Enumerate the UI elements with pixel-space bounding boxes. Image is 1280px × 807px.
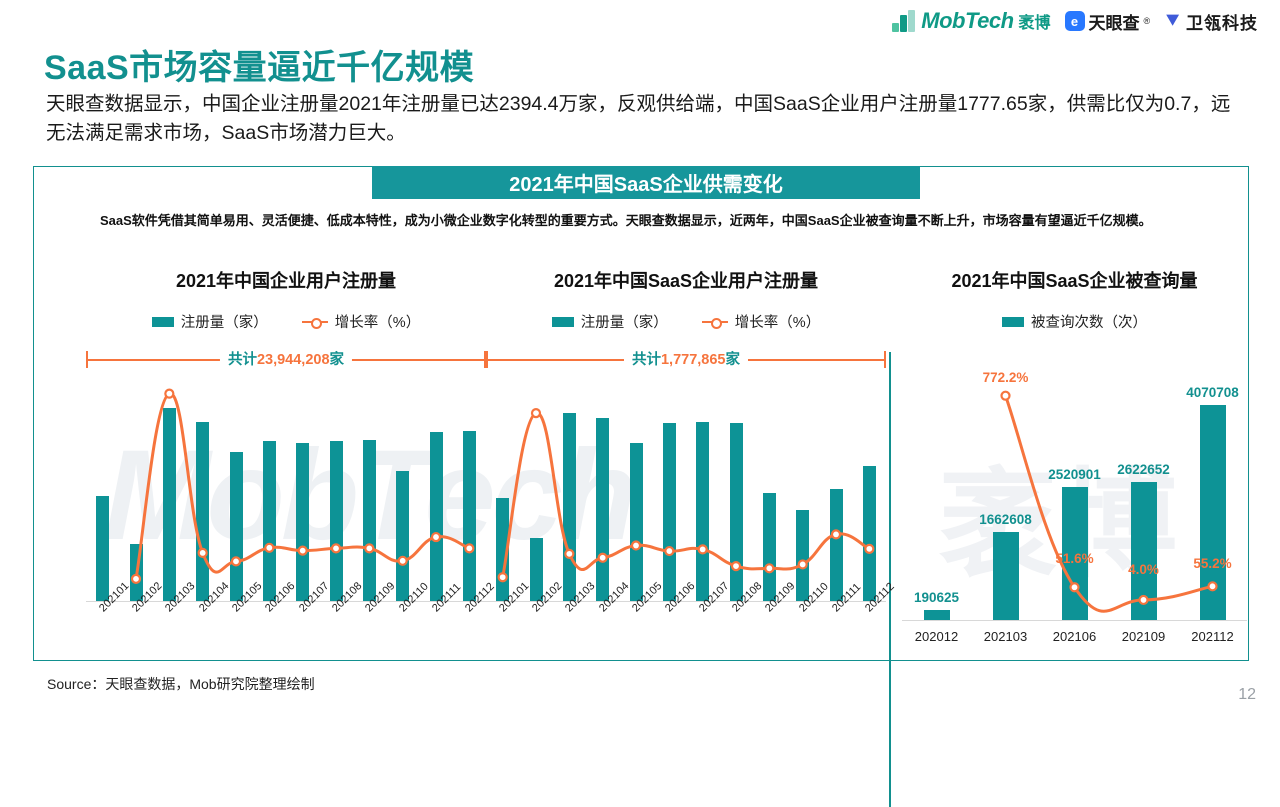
- chart-3-title: 2021年中国SaaS企业被查询量: [902, 267, 1247, 293]
- line-swatch-icon: [702, 317, 728, 327]
- chart-1-legend: 注册量（家） 增长率（%）: [86, 311, 486, 332]
- total-text: 共计1,777,865家: [624, 348, 748, 369]
- chart-2-xaxis-labels: 2021012021022021032021042021052021062021…: [486, 606, 886, 652]
- x-axis-label: 202012: [915, 629, 958, 644]
- tianyancha-logo: e 天眼查 ®: [1065, 9, 1151, 34]
- growth-line: [902, 358, 1247, 621]
- legend-item-bar: 注册量（家）: [552, 311, 668, 332]
- growth-value-label: 772.2%: [983, 370, 1029, 385]
- total-cap-right: [884, 351, 886, 368]
- chart-card: 2021年中国SaaS企业供需变化 SaaS软件凭借其简单易用、灵活便捷、低成本…: [33, 166, 1249, 661]
- chart-panel-2: 2021年中国SaaS企业用户注册量 注册量（家） 增长率（%） 共计1,777…: [486, 267, 886, 652]
- chart-1-total-annotation: 共计23,944,208家: [86, 348, 486, 370]
- chart-panel-3: 2021年中国SaaS企业被查询量 被查询次数（次） 1906251662608…: [902, 267, 1247, 651]
- chart-2-legend: 注册量（家） 增长率（%）: [486, 311, 886, 332]
- mobtech-cn-label: 袤博: [1019, 9, 1051, 33]
- chart-3-plot: 1906251662608252090126226524070708772.2%…: [902, 358, 1247, 621]
- mobtech-wordmark: MobTech: [921, 8, 1013, 34]
- card-note: SaaS软件凭借其简单易用、灵活便捷、低成本特性，成为小微企业数字化转型的重要方…: [100, 211, 1190, 231]
- chart-1-xaxis-labels: 2021012021022021032021042021052021062021…: [86, 606, 486, 652]
- page-title: SaaS市场容量逼近千亿规模: [44, 40, 474, 89]
- slide: MobTech 袤博 e 天眼查 ® ⯆ 卫瓴科技 SaaS市场容量逼近千亿规模…: [0, 0, 1280, 720]
- x-axis-label: 202103: [984, 629, 1027, 644]
- chart-3-legend: 被查询次数（次）: [902, 311, 1247, 332]
- bar-swatch-icon: [152, 317, 174, 327]
- panel-divider: [889, 352, 891, 807]
- x-axis-label: 202109: [1122, 629, 1165, 644]
- total-text: 共计23,944,208家: [220, 348, 352, 369]
- chart-panel-1: 2021年中国企业用户注册量 注册量（家） 增长率（%） 共计23,944,20…: [86, 267, 486, 652]
- growth-line: [486, 384, 886, 602]
- growth-value-label: 51.6%: [1055, 551, 1093, 566]
- legend-item-bar: 注册量（家）: [152, 311, 268, 332]
- chart-1-plot: [86, 384, 486, 602]
- legend-label-bar: 注册量（家）: [181, 311, 268, 332]
- tianyancha-badge-icon: e: [1065, 11, 1085, 31]
- legend-label-bar: 被查询次数（次）: [1031, 311, 1147, 332]
- lead-paragraph: 天眼查数据显示，中国企业注册量2021年注册量已达2394.4万家，反观供给端，…: [46, 90, 1246, 149]
- legend-label-bar: 注册量（家）: [581, 311, 668, 332]
- legend-label-line: 增长率（%）: [335, 311, 420, 332]
- weiping-mark-icon: ⯆: [1164, 11, 1181, 32]
- tianyancha-wordmark: 天眼查: [1089, 9, 1140, 34]
- mobtech-mark-icon: [892, 10, 916, 32]
- chart-2-plot: [486, 384, 886, 602]
- x-axis-label: 202112: [1191, 629, 1233, 644]
- card-banner-title: 2021年中国SaaS企业供需变化: [372, 166, 920, 199]
- legend-item-line: 增长率（%）: [702, 311, 820, 332]
- total-cap-left: [486, 351, 488, 368]
- registered-mark-icon: ®: [1144, 16, 1151, 26]
- source-note: Source：天眼查数据，Mob研究院整理绘制: [47, 674, 315, 694]
- legend-item-line: 增长率（%）: [302, 311, 420, 332]
- x-axis-label: 202106: [1053, 629, 1096, 644]
- chart-2-total-annotation: 共计1,777,865家: [486, 348, 886, 370]
- weiping-logo: ⯆ 卫瓴科技: [1164, 9, 1258, 34]
- weiping-wordmark: 卫瓴科技: [1186, 9, 1258, 34]
- chart-1-title: 2021年中国企业用户注册量: [86, 267, 486, 293]
- growth-line: [86, 384, 486, 602]
- chart-2-title: 2021年中国SaaS企业用户注册量: [486, 267, 886, 293]
- legend-label-line: 增长率（%）: [735, 311, 820, 332]
- mobtech-logo: MobTech 袤博: [892, 8, 1050, 34]
- page-number: 12: [1238, 686, 1256, 704]
- legend-item-bar: 被查询次数（次）: [1002, 311, 1147, 332]
- chart-3-xaxis-labels: 202012202103202106202109202112: [902, 625, 1247, 651]
- total-cap-left: [86, 351, 88, 368]
- line-swatch-icon: [302, 317, 328, 327]
- growth-value-label: 4.0%: [1128, 562, 1159, 577]
- bar-swatch-icon: [552, 317, 574, 327]
- bar-swatch-icon: [1002, 317, 1024, 327]
- growth-value-label: 55.2%: [1193, 556, 1231, 571]
- brand-logo-row: MobTech 袤博 e 天眼查 ® ⯆ 卫瓴科技: [892, 8, 1258, 34]
